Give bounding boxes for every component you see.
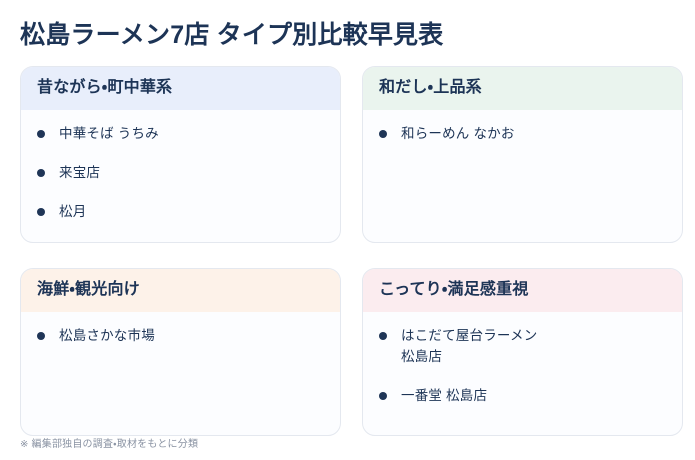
list-item: はこだて屋台ラーメン 松島店 bbox=[379, 326, 666, 368]
category-card-body-0: 中華そば うちみ 来宝店 松月 bbox=[21, 110, 340, 242]
category-card-0: 昔ながら・町中華系 中華そば うちみ 来宝店 松月 bbox=[20, 66, 341, 243]
category-card-1: 和だし・上品系 和らーめん なかお bbox=[362, 66, 683, 243]
shop-list-2: 松島さかな市場 bbox=[37, 326, 324, 347]
category-card-header-0: 昔ながら・町中華系 bbox=[21, 67, 340, 110]
list-item: 松島さかな市場 bbox=[37, 326, 324, 347]
list-item: 松月 bbox=[37, 202, 324, 223]
shop-name: 中華そば うちみ bbox=[59, 124, 324, 145]
shop-name: はこだて屋台ラーメン 松島店 bbox=[401, 326, 666, 368]
category-card-body-1: 和らーめん なかお bbox=[363, 110, 682, 242]
bullet-dot-icon bbox=[379, 332, 387, 340]
list-item: 来宝店 bbox=[37, 163, 324, 184]
category-card-body-3: はこだて屋台ラーメン 松島店 一番堂 松島店 bbox=[363, 312, 682, 435]
bullet-dot-icon bbox=[37, 169, 45, 177]
shop-name: 松島さかな市場 bbox=[59, 326, 324, 347]
shop-list-1: 和らーめん なかお bbox=[379, 124, 666, 145]
list-item: 中華そば うちみ bbox=[37, 124, 324, 145]
bullet-dot-icon bbox=[37, 332, 45, 340]
shop-list-0: 中華そば うちみ 来宝店 松月 bbox=[37, 124, 324, 223]
source-footnote: ※ 編集部独自の調査・取材をもとに分類 bbox=[20, 438, 198, 452]
shop-name: 一番堂 松島店 bbox=[401, 386, 666, 407]
shop-name: 松月 bbox=[59, 202, 324, 223]
category-card-header-2: 海鮮・観光向け bbox=[21, 269, 340, 312]
category-card-2: 海鮮・観光向け 松島さかな市場 bbox=[20, 268, 341, 436]
category-card-3: こってり・満足感重視 はこだて屋台ラーメン 松島店 一番堂 松島店 bbox=[362, 268, 683, 436]
bullet-dot-icon bbox=[37, 208, 45, 216]
bullet-dot-icon bbox=[379, 130, 387, 138]
category-card-header-1: 和だし・上品系 bbox=[363, 67, 682, 110]
shop-name: 来宝店 bbox=[59, 163, 324, 184]
category-card-header-3: こってり・満足感重視 bbox=[363, 269, 682, 312]
list-item: 一番堂 松島店 bbox=[379, 386, 666, 407]
category-card-body-2: 松島さかな市場 bbox=[21, 312, 340, 435]
shop-list-3: はこだて屋台ラーメン 松島店 一番堂 松島店 bbox=[379, 326, 666, 407]
comparison-table-page: 松島ラーメン7店 タイプ別比較早見表 昔ながら・町中華系 中華そば うちみ 来宝… bbox=[0, 0, 695, 460]
page-title: 松島ラーメン7店 タイプ別比較早見表 bbox=[20, 0, 675, 51]
shop-name: 和らーめん なかお bbox=[401, 124, 666, 145]
bullet-dot-icon bbox=[379, 392, 387, 400]
bullet-dot-icon bbox=[37, 130, 45, 138]
list-item: 和らーめん なかお bbox=[379, 124, 666, 145]
category-card-grid: 昔ながら・町中華系 中華そば うちみ 来宝店 松月 bbox=[20, 66, 675, 436]
